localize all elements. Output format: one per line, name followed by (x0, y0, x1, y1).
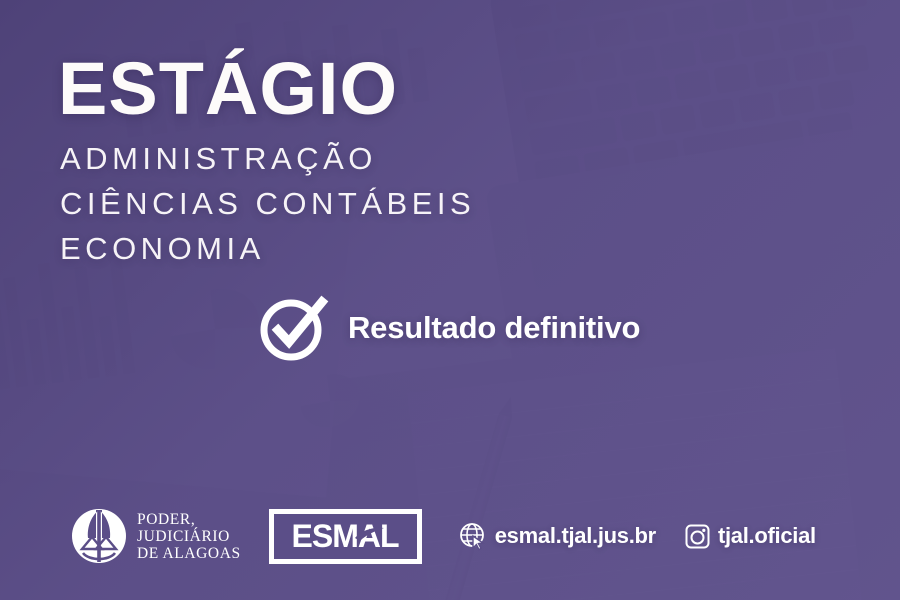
course-list: ADMINISTRAÇÃO CIÊNCIAS CONTÁBEIS ECONOMI… (60, 136, 475, 271)
course-item-economia: ECONOMIA (60, 226, 475, 271)
contact-list: esmal.tjal.jus.br tjal.oficial (458, 521, 816, 551)
instagram-text: tjal.oficial (718, 523, 816, 549)
tjal-line-2: JUDICIÁRIO (137, 528, 241, 545)
instagram-contact[interactable]: tjal.oficial (684, 523, 816, 550)
footer-bar: PODER, JUDICIÁRIO DE ALAGOAS ESMAL (70, 505, 816, 567)
tjal-line-1: PODER, (137, 511, 241, 528)
esmal-text: ESMAL (292, 518, 399, 554)
poster-content: ESTÁGIO ADMINISTRAÇÃO CIÊNCIAS CONTÁBEIS… (0, 0, 900, 600)
globe-cursor-icon (458, 521, 488, 551)
instagram-icon (684, 523, 711, 550)
poster-canvas: ESTÁGIO ADMINISTRAÇÃO CIÊNCIAS CONTÁBEIS… (0, 0, 900, 600)
tjal-logo: PODER, JUDICIÁRIO DE ALAGOAS (70, 505, 241, 567)
website-contact[interactable]: esmal.tjal.jus.br (458, 521, 656, 551)
course-item-ciencias-contabeis: CIÊNCIAS CONTÁBEIS (60, 181, 475, 226)
result-label: Resultado definitivo (348, 310, 640, 346)
circle-check-icon (258, 292, 330, 364)
esmal-logo: ESMAL (269, 509, 422, 564)
esmal-logo-frame: ESMAL (272, 512, 419, 561)
website-text: esmal.tjal.jus.br (495, 523, 656, 549)
scales-of-justice-seal-icon (70, 505, 128, 567)
course-item-administracao: ADMINISTRAÇÃO (60, 136, 475, 181)
page-title: ESTÁGIO (58, 52, 398, 126)
esmal-wordmark: ESMAL (283, 516, 407, 556)
tjal-wordmark: PODER, JUDICIÁRIO DE ALAGOAS (137, 511, 241, 562)
tjal-line-3: DE ALAGOAS (137, 545, 241, 562)
result-banner: Resultado definitivo (258, 292, 640, 364)
